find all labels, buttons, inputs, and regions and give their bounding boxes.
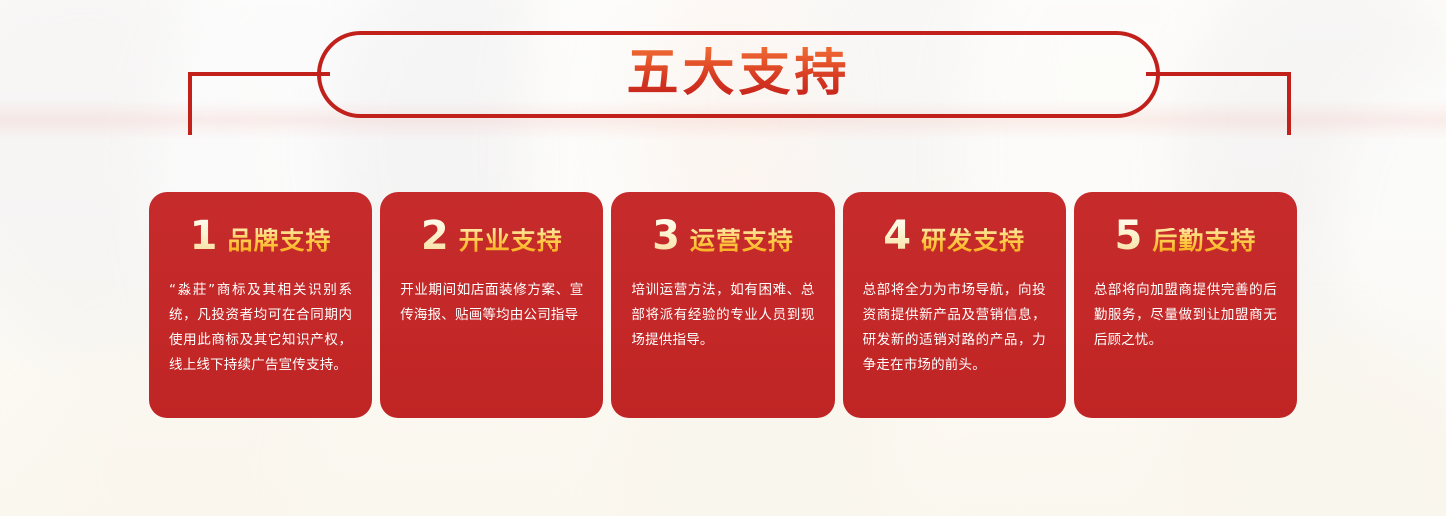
support-card-1[interactable]: 1 品牌支持 “淼莊”商标及其相关识别系统，凡投资者均可在合同期内使用此商标及其… <box>149 192 372 418</box>
support-card-2[interactable]: 2 开业支持 开业期间如店面装修方案、宣传海报、贴画等均由公司指导 <box>380 192 603 418</box>
page-title: 五大支持 <box>626 47 850 103</box>
support-card-3[interactable]: 3 运营支持 培训运营方法，如有困难、总部将派有经验的专业人员到现场提供指导。 <box>611 192 834 418</box>
card-body-text: “淼莊”商标及其相关识别系统，凡投资者均可在合同期内使用此商标及其它知识产权，线… <box>169 278 352 378</box>
card-title: 运营支持 <box>690 228 794 253</box>
title-pill: 五大支持 <box>317 31 1160 118</box>
card-title: 品牌支持 <box>228 228 332 253</box>
card-number: 5 <box>1114 216 1142 256</box>
card-body-text: 培训运营方法，如有困难、总部将派有经验的专业人员到现场提供指导。 <box>631 278 814 353</box>
card-number: 1 <box>190 216 218 256</box>
support-card-list: 1 品牌支持 “淼莊”商标及其相关识别系统，凡投资者均可在合同期内使用此商标及其… <box>149 192 1297 418</box>
support-banner: 五大支持 1 品牌支持 “淼莊”商标及其相关识别系统，凡投资者均可在合同期内使用… <box>0 0 1446 516</box>
card-title: 后勤支持 <box>1152 228 1256 253</box>
card-body-text: 总部将全力为市场导航，向投资商提供新产品及营销信息，研发新的适销对路的产品，力争… <box>863 278 1046 378</box>
card-body-text: 开业期间如店面装修方案、宣传海报、贴画等均由公司指导 <box>400 278 583 328</box>
card-body-text: 总部将向加盟商提供完善的后勤服务，尽量做到让加盟商无后顾之忧。 <box>1094 278 1277 353</box>
card-title: 开业支持 <box>459 228 563 253</box>
card-number: 3 <box>652 216 680 256</box>
card-number: 4 <box>883 216 911 256</box>
support-card-5[interactable]: 5 后勤支持 总部将向加盟商提供完善的后勤服务，尽量做到让加盟商无后顾之忧。 <box>1074 192 1297 418</box>
card-header: 1 品牌支持 <box>169 216 352 260</box>
card-header: 3 运营支持 <box>631 216 814 260</box>
card-title: 研发支持 <box>921 228 1025 253</box>
card-header: 5 后勤支持 <box>1094 216 1277 260</box>
card-header: 4 研发支持 <box>863 216 1046 260</box>
card-number: 2 <box>421 216 449 256</box>
card-header: 2 开业支持 <box>400 216 583 260</box>
support-card-4[interactable]: 4 研发支持 总部将全力为市场导航，向投资商提供新产品及营销信息，研发新的适销对… <box>843 192 1066 418</box>
